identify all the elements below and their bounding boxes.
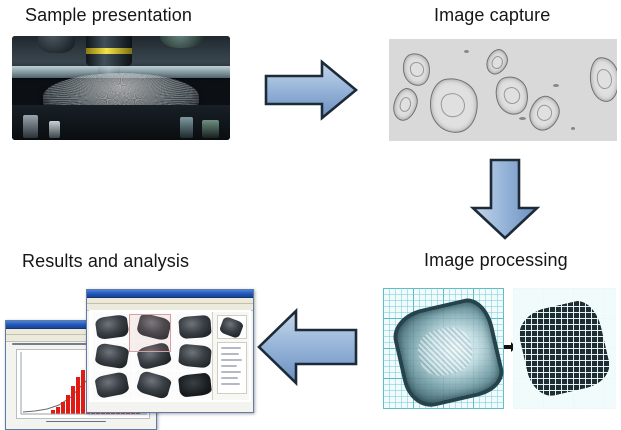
selected-particle-preview[interactable] <box>217 315 247 339</box>
step-label-sample-presentation: Sample presentation <box>25 5 192 26</box>
bench-part-3 <box>180 117 193 138</box>
instrument-bench <box>12 105 230 140</box>
property-row <box>221 353 239 355</box>
particle-thumbnail[interactable] <box>93 314 132 340</box>
debris-fleck <box>553 84 559 87</box>
microscope-objective-icon <box>86 36 132 67</box>
objective-yellow-ring <box>86 48 132 54</box>
debris-fleck <box>464 50 469 53</box>
particle-thumbnail[interactable] <box>93 343 132 369</box>
particle-thumbnail[interactable] <box>176 343 215 369</box>
property-row <box>221 365 237 367</box>
particle <box>491 72 532 118</box>
particle <box>400 51 433 89</box>
debris-fleck <box>519 117 526 120</box>
bench-part-1 <box>23 115 38 138</box>
workflow-diagram: Sample presentation <box>0 0 621 430</box>
properties-list[interactable] <box>217 342 247 394</box>
particle-binary-mask <box>515 297 615 400</box>
arrow-down-icon <box>465 158 545 240</box>
particle-thumbnail[interactable] <box>176 372 215 398</box>
processing-grid-binary <box>513 288 616 409</box>
bench-part-4 <box>202 120 219 138</box>
particle <box>389 85 420 123</box>
bench-part-2 <box>49 121 60 138</box>
property-row <box>221 383 240 385</box>
particle-thumbnail[interactable] <box>135 372 174 398</box>
arrow-left-icon <box>256 308 358 386</box>
selected-particle-highlight[interactable] <box>129 314 171 352</box>
particle <box>426 75 481 136</box>
particle <box>525 92 565 135</box>
particle-thumbnail[interactable] <box>93 372 132 398</box>
particle <box>482 46 512 79</box>
processing-grid-raw <box>383 288 504 409</box>
gallery-window-titlebar[interactable] <box>87 290 253 298</box>
gallery-body <box>89 310 251 402</box>
sample-presentation-photo <box>12 36 230 140</box>
microscope-turret-left <box>38 36 75 53</box>
image-capture-frame <box>389 39 617 141</box>
property-row <box>221 371 241 373</box>
particle-thumbnail[interactable] <box>176 314 215 340</box>
property-row <box>221 377 238 379</box>
arrow-right-icon <box>264 60 358 120</box>
property-row <box>221 347 241 349</box>
step-label-image-processing: Image processing <box>424 250 568 271</box>
step-label-results-and-analysis: Results and analysis <box>22 251 189 272</box>
debris-fleck <box>571 127 575 130</box>
property-row <box>221 359 242 361</box>
particle-gallery-window[interactable] <box>86 289 254 413</box>
particle <box>587 56 617 104</box>
particle-raw <box>388 294 507 412</box>
particle-properties-panel[interactable] <box>212 312 249 400</box>
report-footer-line <box>46 421 106 423</box>
step-label-image-capture: Image capture <box>434 5 550 26</box>
